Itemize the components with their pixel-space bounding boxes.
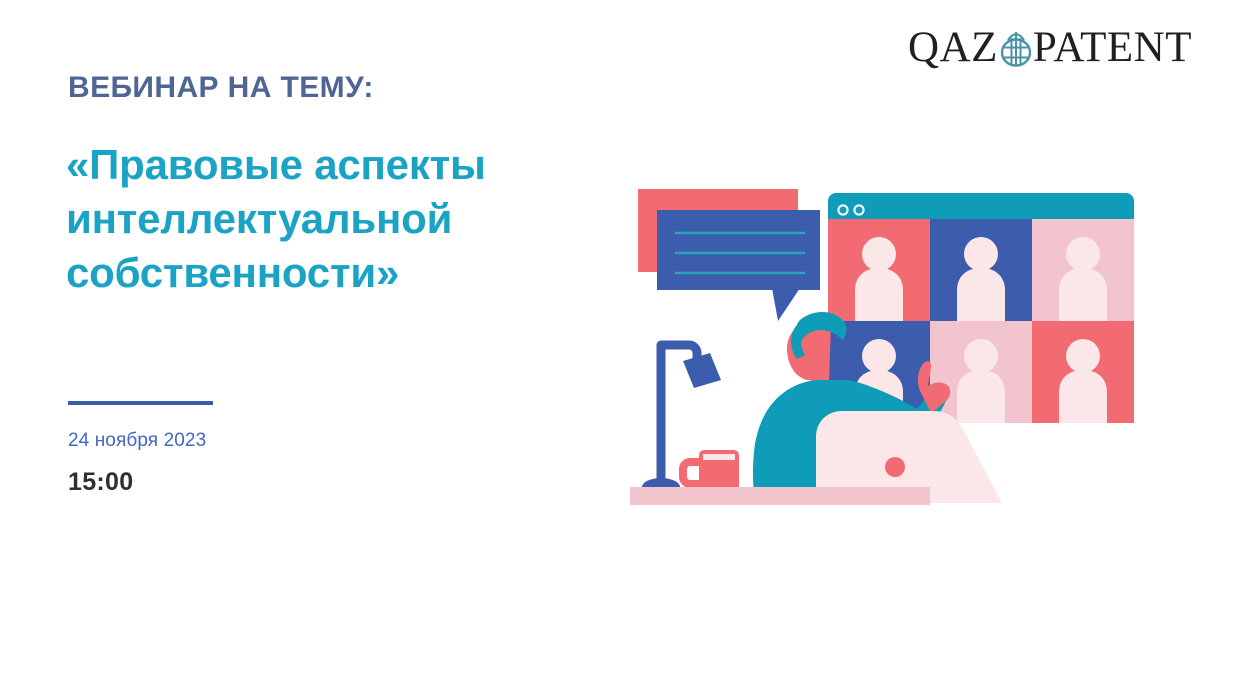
video-tile (1032, 321, 1134, 423)
event-date: 24 ноября 2023 (68, 430, 206, 452)
logo-text-patent: PATENT (1033, 26, 1192, 69)
event-time: 15:00 (68, 468, 133, 497)
video-tile (930, 219, 1032, 321)
webinar-title: «Правовые аспекты интеллектуальной собст… (66, 138, 626, 299)
desk-surface (630, 487, 930, 505)
video-tile (828, 219, 930, 321)
webinar-video-call-illustration (620, 175, 1160, 520)
video-tile (930, 321, 1032, 423)
speech-bubble-blue (657, 210, 820, 321)
dombra-emblem-icon (993, 25, 1039, 71)
logo-text-qaz: QAZ (908, 26, 998, 69)
window-titlebar (828, 193, 1134, 219)
video-tile (1032, 219, 1134, 321)
laptop-logo-icon (885, 457, 905, 477)
webinar-kicker: ВЕБИНАР НА ТЕМУ: (68, 70, 374, 106)
qazpatent-logo: QAZ PATENT (908, 24, 1192, 70)
title-divider (68, 401, 213, 405)
